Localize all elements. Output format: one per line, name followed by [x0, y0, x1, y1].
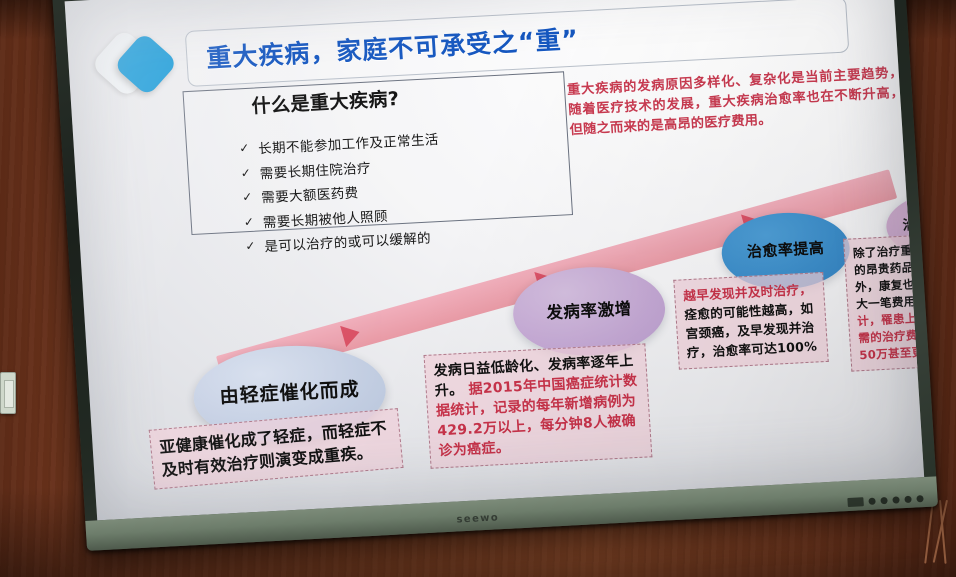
- port-icon[interactable]: [916, 495, 923, 502]
- list-item-label: 需要长期住院治疗: [259, 156, 371, 182]
- list-item-label: 需要大额医药费: [261, 181, 359, 206]
- caption-black-text: 除了治疗重疾所需的昂贵药品费用之外，康复也占了很大一笔费用。: [853, 241, 925, 311]
- device-brand-label: seewo: [456, 512, 499, 525]
- check-icon: ✓: [239, 141, 252, 156]
- arrow-right-icon: [340, 321, 362, 347]
- bezel-control-panel[interactable]: [847, 494, 923, 507]
- caption-black-text: 亚健康催化成了轻症，而轻症不及时有效治疗则演变成重疾。: [158, 416, 394, 482]
- presentation-slide: 重大疾病，家庭不可承受之“重” 什么是重大疾病? ✓ 长期不能参加工作及正常生活…: [65, 0, 925, 520]
- port-icon[interactable]: [880, 497, 887, 504]
- definition-list: ✓ 长期不能参加工作及正常生活 ✓ 需要长期住院治疗 ✓ 需要大额医药费 ✓ 需…: [199, 120, 606, 263]
- caption-sub-health: 亚健康催化成了轻症，而轻症不及时有效治疗则演变成重疾。: [149, 408, 404, 490]
- port-icon[interactable]: [892, 496, 899, 503]
- list-item-label: 需要长期被他人照顾: [262, 204, 388, 231]
- caption-incidence: 发病日益低龄化、发病率逐年上升。 据2015年中国癌症统计数据统计，记录的每年新…: [424, 343, 653, 468]
- check-icon: ✓: [240, 165, 253, 180]
- port-icon[interactable]: [868, 498, 875, 505]
- list-item-label: 是可以治疗的或可以缓解的: [264, 227, 432, 256]
- caption-cure-rate: 越早发现并及时治疗， 痊愈的可能性越高，如宫颈癌，及早发现并治疗，治愈率可达10…: [673, 272, 828, 370]
- port-icon[interactable]: [904, 496, 911, 503]
- check-icon: ✓: [242, 190, 255, 205]
- slide-screen[interactable]: 重大疾病，家庭不可承受之“重” 什么是重大疾病? ✓ 长期不能参加工作及正常生活…: [65, 0, 925, 520]
- usb-port-icon[interactable]: [847, 497, 864, 507]
- caption-red-text: 据2015年中国癌症统计数据统计，记录的每年新增病例为429.2万以上，每分钟8…: [436, 373, 638, 459]
- wall-socket-plate: [0, 372, 16, 414]
- display-bezel: 重大疾病，家庭不可承受之“重” 什么是重大疾病? ✓ 长期不能参加工作及正常生活…: [52, 0, 938, 551]
- caption-black-text: 痊愈的可能性越高，如宫颈癌，及早发现并治疗，治愈率可达100%: [684, 301, 818, 361]
- check-icon: ✓: [245, 239, 258, 254]
- check-icon: ✓: [243, 214, 256, 229]
- interactive-flat-panel[interactable]: 重大疾病，家庭不可承受之“重” 什么是重大疾病? ✓ 长期不能参加工作及正常生活…: [52, 0, 938, 551]
- intro-paragraph: 重大疾病的发病原因多样化、复杂化是当前主要趋势，随着医疗技术的发展，重大疾病治愈…: [567, 64, 906, 141]
- slide-logo: [99, 33, 189, 101]
- caption-treatment-cost: 除了治疗重疾所需的昂贵药品费用之外，康复也占了很大一笔费用。 据统计，罹患上重疾…: [843, 232, 924, 371]
- caption-red-text: 越早发现并及时治疗，: [683, 282, 813, 304]
- hanging-cable: [928, 500, 954, 570]
